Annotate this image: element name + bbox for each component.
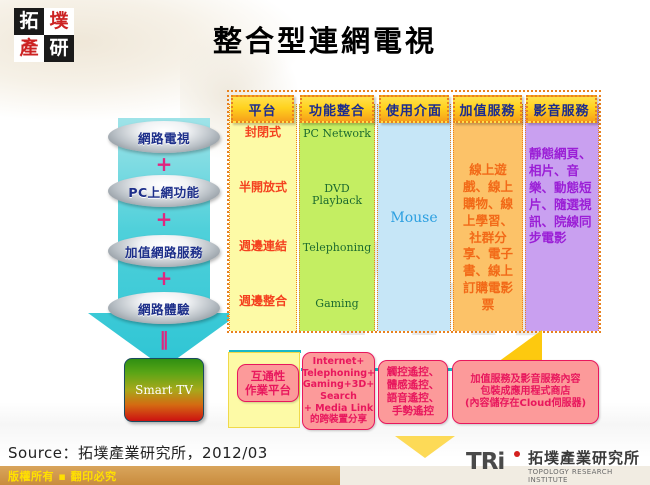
box-label: Internet+ Telephoning+ Gaming+3D+ Search… xyxy=(302,356,375,425)
box-label: 互通性 作業平台 xyxy=(245,369,291,397)
box-label: 觸控遙控、 體感遙控、 語音遙控、 手勢遙控 xyxy=(387,366,440,417)
slide-canvas: TRi 拓 墣 產 研 整合型連網電視 網路電視 + PC上網功能 + 加值網路… xyxy=(0,0,650,485)
header-value-added-service[interactable]: 加值服務 xyxy=(453,95,522,123)
cell-function-2: DVD Playback xyxy=(300,183,374,208)
column-value-added-service: 線上遊戲、線上購物、線上學習、社群分享、電子書、線上訂購電影票 xyxy=(453,104,523,331)
stack-item-network-tv: 網路電視 xyxy=(108,121,220,153)
stack-item-label: 加值網路服務 xyxy=(125,242,203,261)
equals-icon: ‖ xyxy=(108,330,220,349)
copyright-text: 版權所有 ▪ 翻印必究 xyxy=(8,468,117,484)
cell-av-1: 靜態網頁、相片、音樂、動態短片、隨選視訊、院線同步電影 xyxy=(526,146,598,247)
column-function-integration: PC Network DVD Playback Telephoning Gami… xyxy=(299,104,375,331)
stack-item-label: 網路電視 xyxy=(138,128,190,147)
box-content-summary: 加值服務及影音服務內容 包裝成應用程式商店 (內容儲存在Cloud伺服器) xyxy=(452,360,599,424)
column-av-service: 靜態網頁、相片、音樂、動態短片、隨選視訊、院線同步電影 xyxy=(525,104,599,331)
tri-logo-chinese: 拓墣產業研究所 xyxy=(528,450,640,467)
plus-icon-1: + xyxy=(108,154,220,174)
header-av-service[interactable]: 影音服務 xyxy=(526,95,597,123)
cell-platform-2: 半開放式 xyxy=(230,181,296,194)
cell-function-1: PC Network xyxy=(300,128,374,140)
copyright-bar: 版權所有 ▪ 翻印必究 xyxy=(0,466,340,485)
cell-interface-1: Mouse xyxy=(378,211,450,227)
stack-item-label: PC上網功能 xyxy=(128,182,199,201)
source-caption: Source：拓墣產業研究所，2012/03 xyxy=(8,442,268,463)
tri-logo-english: TOPOLOGY RESEARCH INSTITUTE xyxy=(528,468,644,484)
header-label: 使用介面 xyxy=(386,100,442,119)
tri-logo-dot-icon xyxy=(514,451,520,457)
stack-item-label: 網路體驗 xyxy=(138,299,190,318)
cell-function-4: Gaming xyxy=(300,298,374,310)
header-label: 平台 xyxy=(248,100,276,119)
box-label: 加值服務及影音服務內容 包裝成應用程式商店 (內容儲存在Cloud伺服器) xyxy=(465,374,586,411)
cell-platform-4: 週邊整合 xyxy=(230,295,296,308)
column-platform: 封閉式 半開放式 週邊連結 週邊整合 xyxy=(229,104,297,331)
header-function-integration[interactable]: 功能整合 xyxy=(300,95,374,123)
header-platform[interactable]: 平台 xyxy=(231,95,294,123)
header-label: 影音服務 xyxy=(533,100,589,119)
cell-value-added-1: 線上遊戲、線上購物、線上學習、社群分享、電子書、線上訂購電影票 xyxy=(454,162,522,314)
cell-platform-3: 週邊連結 xyxy=(230,240,296,253)
stack-item-value-added-network: 加值網路服務 xyxy=(108,235,220,267)
page-title: 整合型連網電視 xyxy=(0,18,650,60)
box-interoperable-platform: 互通性 作業平台 xyxy=(237,364,299,402)
cell-function-3: Telephoning xyxy=(300,242,374,254)
header-label: 加值服務 xyxy=(459,100,515,119)
tri-logo: TRi 拓墣產業研究所 TOPOLOGY RESEARCH INSTITUTE xyxy=(466,450,644,480)
box-function-summary: Internet+ Telephoning+ Gaming+3D+ Search… xyxy=(302,352,375,430)
box-control-summary: 觸控遙控、 體感遙控、 語音遙控、 手勢遙控 xyxy=(378,360,448,424)
header-user-interface[interactable]: 使用介面 xyxy=(379,95,449,123)
column-user-interface: Mouse xyxy=(377,104,451,331)
smart-tv-box: Smart TV xyxy=(124,358,204,422)
plus-icon-2: + xyxy=(108,209,220,229)
header-label: 功能整合 xyxy=(309,100,365,119)
smart-tv-label: Smart TV xyxy=(135,383,193,397)
stack-item-network-experience: 網路體驗 xyxy=(108,292,220,324)
stack-item-pc-internet: PC上網功能 xyxy=(108,175,220,207)
cell-platform-1: 封閉式 xyxy=(230,126,296,139)
plus-icon-3: + xyxy=(108,268,220,288)
tri-logo-mark: TRi xyxy=(466,451,504,474)
